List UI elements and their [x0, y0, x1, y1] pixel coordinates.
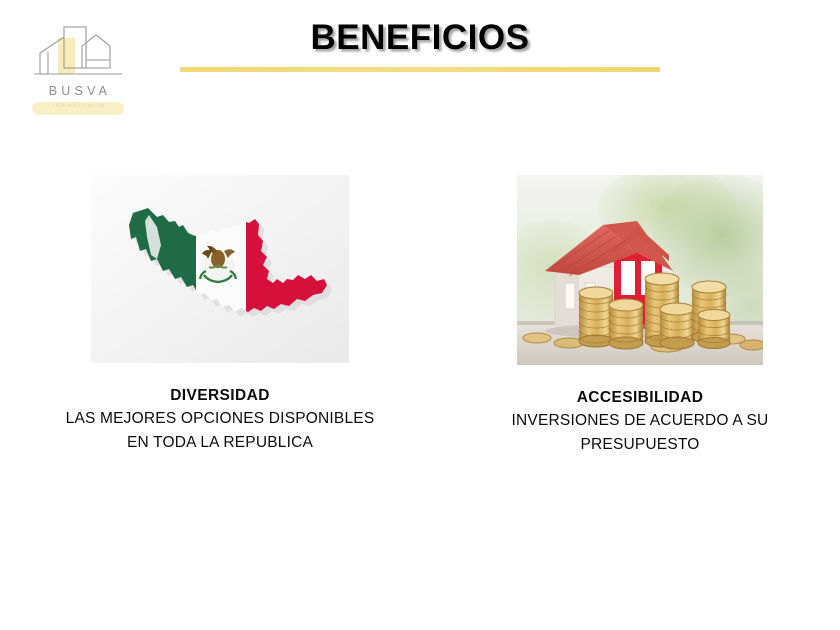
benefit-caption-accesibilidad: ACCESIBILIDAD INVERSIONES DE ACUERDO A S… [440, 387, 840, 458]
benefit-column-diversidad: DIVERSIDAD LAS MEJORES OPCIONES DISPONIB… [0, 175, 440, 456]
logo-wordmark: BUSVA [26, 84, 130, 98]
house-and-coins-image [517, 175, 763, 365]
mexico-flag-map-image [91, 175, 349, 363]
page-title: BENEFICIOS [0, 18, 840, 58]
slide-canvas: BUSVA inmobiliaria BENEFICIOS [0, 0, 840, 630]
benefit-caption-diversidad: DIVERSIDAD LAS MEJORES OPCIONES DISPONIB… [0, 385, 440, 456]
logo-tagline: inmobiliaria [26, 103, 130, 109]
benefit-body: LAS MEJORES OPCIONES DISPONIBLES EN TODA… [14, 407, 426, 455]
title-underline-rule [180, 67, 660, 72]
benefit-body: INVERSIONES DE ACUERDO A SU PRESUPUESTO [476, 409, 804, 457]
benefit-heading: DIVERSIDAD [14, 385, 426, 407]
benefit-heading: ACCESIBILIDAD [476, 387, 804, 409]
benefit-column-accesibilidad: ACCESIBILIDAD INVERSIONES DE ACUERDO A S… [440, 175, 840, 458]
